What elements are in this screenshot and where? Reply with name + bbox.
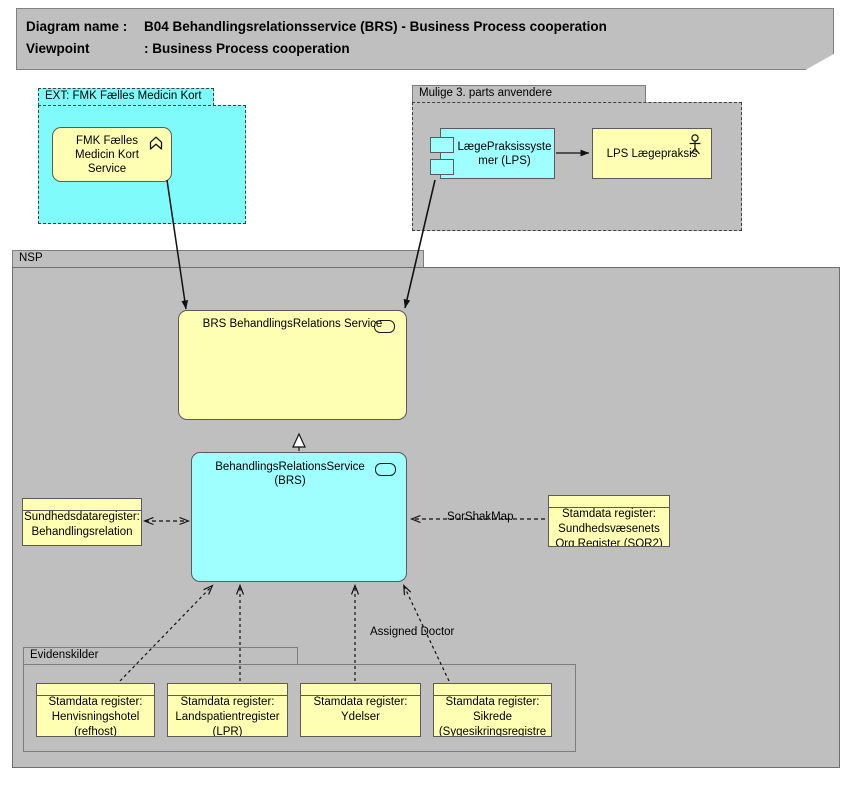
diagram-name-value: B04 Behandlingsrelationsservice (BRS) - … — [144, 19, 607, 34]
node-sundhedsdataregister[interactable]: Sundhedsdataregister: Behandlingsrelatio… — [22, 498, 142, 546]
node-evidens-ydelser[interactable]: Stamdata register: Ydelser — [300, 683, 421, 737]
diagram-name-row: Diagram name :B04 Behandlingsrelationsse… — [26, 19, 607, 34]
actor-icon — [687, 134, 703, 156]
package-tab-third-party[interactable]: Mulige 3. parts anvendere — [412, 85, 646, 103]
package-tab-evidenskilder[interactable]: Evidenskilder — [23, 647, 298, 665]
node-lps-component[interactable]: LægePraksissyste mer (LPS) — [440, 128, 555, 179]
node-brs-component-label: BehandlingsRelationsService (BRS) — [192, 460, 406, 488]
interface-oval-icon-2 — [375, 463, 396, 476]
node-sor2[interactable]: Stamdata register: Sundhedsvæsenets Org … — [548, 495, 670, 547]
node-sundhedsdataregister-label: Sundhedsdataregister: Behandlingsrelatio… — [23, 510, 141, 540]
node-laegepraksis[interactable]: LPS Lægepraksis — [592, 128, 712, 179]
node-evidens-label-3: Stamdata register: Sikrede (Sygesikrings… — [434, 695, 551, 737]
node-brs-component[interactable]: BehandlingsRelationsService (BRS) — [191, 452, 407, 582]
component-icon — [430, 137, 454, 153]
viewpoint-label: Viewpoint — [26, 41, 144, 56]
viewpoint-row: Viewpoint: Business Process cooperation — [26, 41, 350, 56]
node-evidens-henvisningshotel[interactable]: Stamdata register: Henvisningshotel (ref… — [36, 683, 155, 737]
node-laegepraksis-label: LPS Lægepraksis — [607, 147, 698, 161]
node-fmk-service[interactable]: FMK Fælles Medicin Kort Service — [52, 127, 172, 182]
package-tab-fmk[interactable]: EXT: FMK Fælles Medicin Kort — [38, 88, 214, 106]
node-evidens-lpr[interactable]: Stamdata register: Landspatientregister … — [167, 683, 288, 737]
chevron-up-icon — [148, 136, 164, 152]
package-tab-nsp[interactable]: NSP — [12, 250, 424, 268]
node-brs-service[interactable]: BRS BehandlingsRelations Service — [178, 310, 407, 420]
node-evidens-sikrede[interactable]: Stamdata register: Sikrede (Sygesikrings… — [433, 683, 552, 737]
node-lps-component-label: LægePraksissyste mer (LPS) — [441, 140, 554, 168]
connector-label-assigned-doctor: Assigned Doctor — [370, 626, 454, 638]
node-evidens-label-0: Stamdata register: Henvisningshotel (ref… — [37, 695, 154, 737]
node-evidens-label-1: Stamdata register: Landspatientregister … — [168, 695, 287, 737]
diagram-name-label: Diagram name : — [26, 19, 144, 34]
node-evidens-label-2: Stamdata register: Ydelser — [301, 695, 420, 725]
interface-oval-icon — [374, 320, 395, 333]
connector-label-sorshakmap: SorShakMap — [447, 511, 513, 523]
component-icon-lower — [430, 159, 454, 175]
diagram-title-block: Diagram name :B04 Behandlingsrelationsse… — [16, 8, 834, 70]
node-sor2-label: Stamdata register: Sundhedsvæsenets Org … — [549, 507, 669, 547]
node-brs-service-label: BRS BehandlingsRelations Service — [203, 317, 383, 331]
viewpoint-value: : Business Process cooperation — [144, 41, 350, 56]
